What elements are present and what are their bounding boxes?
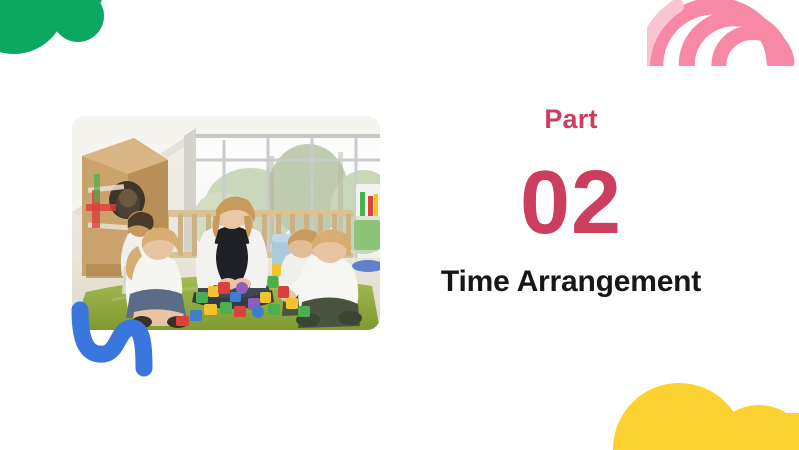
slide-canvas: Part 02 Time Arrangement <box>0 0 799 450</box>
pink-rainbow-arcs <box>647 0 799 66</box>
section-text-block: Part 02 Time Arrangement <box>420 104 722 300</box>
green-cloud-shape <box>0 0 111 74</box>
section-title: Time Arrangement <box>420 264 722 300</box>
part-label: Part <box>420 104 722 135</box>
part-number: 02 <box>420 158 722 248</box>
yellow-cloud-shape <box>587 365 799 450</box>
playroom-photo <box>72 116 380 330</box>
